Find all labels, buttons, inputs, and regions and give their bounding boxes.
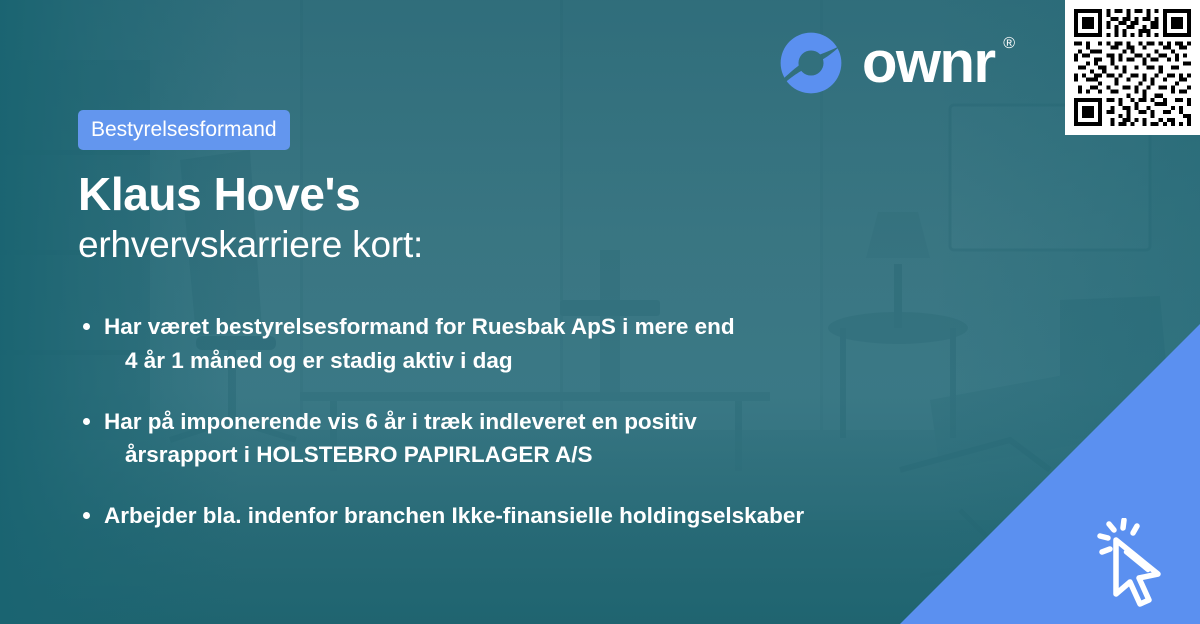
- list-item-line1: Arbejder bla. indenfor branchen Ikke-fin…: [104, 499, 1078, 533]
- ownr-wordmark: ownr ®: [862, 34, 995, 92]
- list-item-line2: årsrapport i HOLSTEBRO PAPIRLAGER A/S: [104, 438, 1078, 472]
- list-item: Arbejder bla. indenfor branchen Ikke-fin…: [78, 499, 1078, 533]
- role-badge: Bestyrelsesformand: [78, 110, 290, 150]
- page-title: Klaus Hove's: [78, 171, 1038, 217]
- registered-trademark-mark: ®: [1003, 36, 1013, 52]
- qr-code-icon[interactable]: [1065, 0, 1200, 135]
- click-cursor-icon: [1092, 518, 1192, 618]
- list-item-line1: Har på imponerende vis 6 år i træk indle…: [104, 405, 1078, 439]
- ownr-logo: ownr ®: [778, 30, 995, 96]
- bullet-dot-icon: [83, 418, 90, 425]
- ownr-circle-swoosh-icon: [778, 30, 844, 96]
- bullet-dot-icon: [83, 512, 90, 519]
- page-subtitle: erhvervskarriere kort:: [78, 226, 1038, 265]
- bullet-dot-icon: [83, 323, 90, 330]
- list-item-line1: Har været bestyrelsesformand for Ruesbak…: [104, 310, 1078, 344]
- career-highlights-list: Har været bestyrelsesformand for Ruesbak…: [78, 310, 1078, 533]
- ownr-wordmark-text: ownr: [862, 30, 995, 95]
- list-item: Har været bestyrelsesformand for Ruesbak…: [78, 310, 1078, 378]
- career-card: ownr ®: [0, 0, 1200, 624]
- headline-block: Bestyrelsesformand Klaus Hove's erhvervs…: [78, 110, 1038, 265]
- list-item-line2: 4 år 1 måned og er stadig aktiv i dag: [104, 344, 1078, 378]
- list-item: Har på imponerende vis 6 år i træk indle…: [78, 405, 1078, 473]
